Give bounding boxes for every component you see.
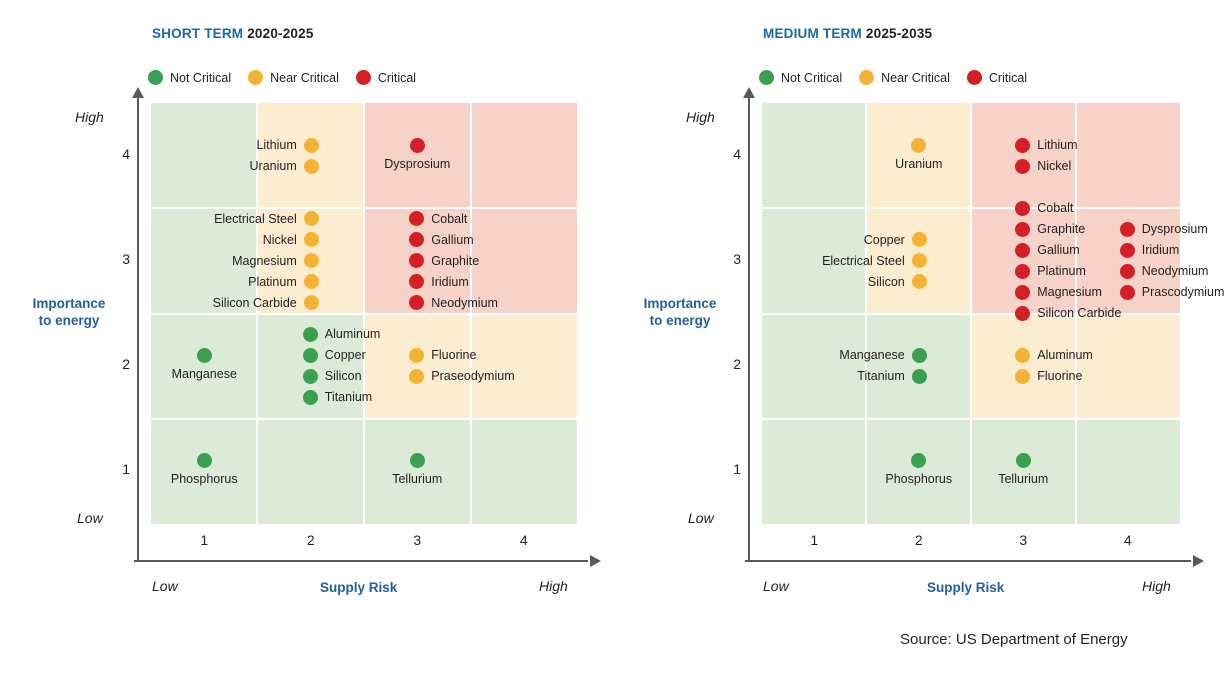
legend-dot-near-critical <box>859 70 874 85</box>
point-group-near-critical-row2: AluminumFluorine <box>1015 346 1215 386</box>
data-point-label: Copper <box>864 234 905 247</box>
data-point-dot <box>1120 222 1135 237</box>
data-point-dot <box>409 295 424 310</box>
data-point-label: Graphite <box>431 255 479 268</box>
data-point[interactable]: Copper <box>303 346 366 365</box>
legend-item-not-critical[interactable]: Not Critical <box>148 70 231 85</box>
x-tick-3: 3 <box>971 532 1076 548</box>
data-point-dot <box>409 369 424 384</box>
data-point-dot <box>304 211 319 226</box>
data-point-dot <box>912 274 927 289</box>
data-point-dot <box>1015 369 1030 384</box>
data-point-label: Prascodymium <box>1142 286 1225 299</box>
x-tick-4: 4 <box>471 532 578 548</box>
legend-dot-critical <box>356 70 371 85</box>
x-axis-arrow-icon <box>590 555 601 567</box>
data-point-dot <box>1120 285 1135 300</box>
legend-label: Near Critical <box>270 71 339 85</box>
data-point-label: Praseodymium <box>431 370 514 383</box>
data-point[interactable]: Fluorine <box>1015 367 1082 386</box>
point-group-critical-row3-far: DysprosiumIridiumNeodymiumPrascodymium <box>1120 220 1228 302</box>
data-point[interactable]: Nickel <box>263 230 319 249</box>
data-point-dot <box>304 253 319 268</box>
data-point[interactable]: Lithium <box>256 136 318 155</box>
data-point-label: Copper <box>325 349 366 362</box>
data-point-label: Dysprosium <box>1142 223 1208 236</box>
quadrant-cell <box>472 420 577 524</box>
y-axis-title-line1: Importance <box>619 296 741 313</box>
y-axis-low-label: Low <box>688 510 714 526</box>
data-point-label: Titanium <box>857 370 904 383</box>
point-group-tellurium: Tellurium <box>953 453 1093 486</box>
data-point-label: Magnesium <box>232 255 297 268</box>
legend-label: Near Critical <box>881 71 950 85</box>
data-point-label: Manganese <box>839 349 904 362</box>
data-point-dot <box>912 369 927 384</box>
data-point-label: Electrical Steel <box>214 213 297 226</box>
data-point[interactable]: Uranium <box>895 138 942 171</box>
data-point[interactable]: Iridium <box>1120 241 1180 260</box>
data-point-label: Fluorine <box>1037 370 1082 383</box>
data-point[interactable]: Silicon Carbide <box>1015 304 1121 323</box>
y-axis-low-label: Low <box>77 510 103 526</box>
data-point-label: Neodymium <box>431 297 498 310</box>
data-point[interactable]: Electrical Steel <box>214 209 319 228</box>
data-point[interactable]: Iridium <box>409 272 469 291</box>
legend-item-critical[interactable]: Critical <box>356 70 416 85</box>
data-point[interactable]: Nickel <box>1015 157 1071 176</box>
data-point-dot <box>303 390 318 405</box>
data-point-dot <box>911 453 926 468</box>
data-point[interactable]: Gallium <box>1015 241 1079 260</box>
data-point-dot <box>912 232 927 247</box>
legend-item-critical[interactable]: Critical <box>967 70 1027 85</box>
data-point-dot <box>1015 306 1030 321</box>
data-point[interactable]: Neodymium <box>1120 262 1209 281</box>
data-point-dot <box>410 138 425 153</box>
data-point[interactable]: Copper <box>864 230 927 249</box>
data-point-label: Nickel <box>1037 160 1071 173</box>
data-point[interactable]: Magnesium <box>232 251 319 270</box>
data-point-dot <box>1015 285 1030 300</box>
y-axis-title-line2: to energy <box>8 313 130 330</box>
data-point[interactable]: Titanium <box>303 388 372 407</box>
x-axis-title: Supply Risk <box>320 580 397 595</box>
x-axis-line <box>745 560 1191 562</box>
legend-dot-critical <box>967 70 982 85</box>
point-group-phosphorus: Phosphorus <box>134 453 274 486</box>
legend-item-near-critical[interactable]: Near Critical <box>859 70 950 85</box>
data-point[interactable]: Manganese <box>172 348 237 381</box>
data-point[interactable]: Fluorine <box>409 346 476 365</box>
data-point-label: Electrical Steel <box>822 255 905 268</box>
data-point-label: Lithium <box>256 139 296 152</box>
legend-dot-near-critical <box>248 70 263 85</box>
data-point-dot <box>1015 222 1030 237</box>
data-point-dot <box>197 453 212 468</box>
data-point-dot <box>197 348 212 363</box>
data-point-label: Aluminum <box>325 328 381 341</box>
legend-dot-not-critical <box>759 70 774 85</box>
data-point-label: Magnesium <box>1037 286 1102 299</box>
data-point[interactable]: Gallium <box>409 230 473 249</box>
data-point-dot <box>912 348 927 363</box>
y-axis-title: Importanceto energy <box>8 296 130 330</box>
data-point-label: Phosphorus <box>171 473 238 486</box>
data-point-label: Graphite <box>1037 223 1085 236</box>
x-axis-high-label: High <box>1142 578 1171 594</box>
point-group-near-critical-row2: FluorinePraseodymium <box>409 346 609 386</box>
data-point[interactable]: Silicon <box>303 367 362 386</box>
x-axis-low-label: Low <box>152 578 178 594</box>
data-point-label: Nickel <box>263 234 297 247</box>
x-axis-arrow-icon <box>1193 555 1204 567</box>
data-point-dot <box>304 159 319 174</box>
data-point-label: Tellurium <box>392 473 442 486</box>
point-group-critical-row4: LithiumNickel <box>1015 136 1215 176</box>
x-axis-low-label: Low <box>763 578 789 594</box>
data-point[interactable]: Titanium <box>857 367 926 386</box>
y-axis-arrow-icon <box>743 87 755 98</box>
chart-title-medium-term: MEDIUM TERM 2025-2035 <box>763 26 932 41</box>
y-tick-2: 2 <box>110 356 130 372</box>
y-axis-title-line2: to energy <box>619 313 741 330</box>
data-point-label: Platinum <box>1037 265 1086 278</box>
data-point[interactable]: Neodymium <box>409 293 498 312</box>
data-point-dot <box>1120 243 1135 258</box>
x-tick-3: 3 <box>364 532 471 548</box>
x-tick-4: 4 <box>1076 532 1181 548</box>
data-point-dot <box>1015 264 1030 279</box>
chart-title-short-term: SHORT TERM 2020-2025 <box>152 26 314 41</box>
data-point-dot <box>304 138 319 153</box>
y-axis-title: Importanceto energy <box>619 296 741 330</box>
data-point-dot <box>911 138 926 153</box>
point-group-critical-row3: CobaltGalliumGraphiteIridiumNeodymium <box>409 209 609 312</box>
point-group-uranium: Uranium <box>849 138 989 171</box>
data-point[interactable]: Silicon <box>868 272 927 291</box>
data-point[interactable]: Electrical Steel <box>822 251 927 270</box>
point-group-lithium-uranium: LithiumUranium <box>121 136 319 176</box>
point-group-tellurium: Tellurium <box>347 453 487 486</box>
data-point-label: Neodymium <box>1142 265 1209 278</box>
data-point-dot <box>304 295 319 310</box>
data-point-label: Iridium <box>431 276 469 289</box>
legend-item-near-critical[interactable]: Near Critical <box>248 70 339 85</box>
point-group-near-critical-row3: Electrical SteelNickelMagnesiumPlatinumS… <box>121 209 319 312</box>
legend-label: Not Critical <box>170 71 231 85</box>
data-point-dot <box>409 232 424 247</box>
point-group-dysprosium: Dysprosium <box>347 138 487 171</box>
x-tick-2: 2 <box>867 532 972 548</box>
data-point[interactable]: Graphite <box>1015 220 1085 239</box>
x-axis-high-label: High <box>539 578 568 594</box>
data-point-label: Cobalt <box>1037 202 1073 215</box>
data-point-dot <box>1015 159 1030 174</box>
data-point-dot <box>409 274 424 289</box>
data-point[interactable]: Platinum <box>1015 262 1086 281</box>
data-point-label: Aluminum <box>1037 349 1093 362</box>
data-point-dot <box>303 348 318 363</box>
data-point-label: Uranium <box>895 158 942 171</box>
data-point-dot <box>1015 243 1030 258</box>
point-group-manganese: Manganese <box>134 348 274 381</box>
data-point-dot <box>912 253 927 268</box>
data-point-dot <box>1016 453 1031 468</box>
legend-dot-not-critical <box>148 70 163 85</box>
data-point-label: Iridium <box>1142 244 1180 257</box>
data-point-label: Fluorine <box>431 349 476 362</box>
y-axis-high-label: High <box>75 109 104 125</box>
data-point[interactable]: Phosphorus <box>885 453 952 486</box>
data-point-label: Tellurium <box>998 473 1048 486</box>
chart-title-years: 2025-2035 <box>862 26 932 41</box>
data-point[interactable]: Tellurium <box>392 453 442 486</box>
data-point-dot <box>1015 201 1030 216</box>
y-tick-1: 1 <box>721 461 741 477</box>
data-point-label: Cobalt <box>431 213 467 226</box>
legend-short-term: Not CriticalNear CriticalCritical <box>148 70 416 85</box>
chart-title-term: SHORT TERM <box>152 26 243 41</box>
data-point-label: Silicon Carbide <box>213 297 297 310</box>
x-tick-2: 2 <box>258 532 365 548</box>
x-axis-line <box>134 560 588 562</box>
y-tick-1: 1 <box>110 461 130 477</box>
data-point-dot <box>410 453 425 468</box>
data-point[interactable]: Cobalt <box>409 209 467 228</box>
data-point[interactable]: Praseodymium <box>409 367 514 386</box>
y-axis-title-line1: Importance <box>8 296 130 313</box>
legend-label: Critical <box>378 71 416 85</box>
data-point-label: Titanium <box>325 391 372 404</box>
data-point[interactable]: Tellurium <box>998 453 1048 486</box>
x-axis-title: Supply Risk <box>927 580 1004 595</box>
data-point-dot <box>1120 264 1135 279</box>
data-point-label: Lithium <box>1037 139 1077 152</box>
data-point-dot <box>409 253 424 268</box>
chart-title-years: 2020-2025 <box>243 26 313 41</box>
data-point[interactable]: Silicon Carbide <box>213 293 319 312</box>
data-point-dot <box>304 232 319 247</box>
y-axis-high-label: High <box>686 109 715 125</box>
data-point-label: Manganese <box>172 368 237 381</box>
legend-label: Not Critical <box>781 71 842 85</box>
data-point-dot <box>303 327 318 342</box>
data-point-dot <box>303 369 318 384</box>
data-point-label: Dysprosium <box>384 158 450 171</box>
legend-item-not-critical[interactable]: Not Critical <box>759 70 842 85</box>
source-note: Source: US Department of Energy <box>900 631 1128 648</box>
legend-label: Critical <box>989 71 1027 85</box>
data-point[interactable]: Dysprosium <box>1120 220 1208 239</box>
data-point-label: Platinum <box>248 276 297 289</box>
data-point[interactable]: Dysprosium <box>384 138 450 171</box>
y-axis-line <box>748 98 750 560</box>
data-point-dot <box>304 274 319 289</box>
data-point-dot <box>1015 138 1030 153</box>
data-point[interactable]: Aluminum <box>1015 346 1093 365</box>
data-point[interactable]: Uranium <box>250 157 319 176</box>
chart-title-term: MEDIUM TERM <box>763 26 862 41</box>
y-tick-4: 4 <box>721 146 741 162</box>
data-point[interactable]: Phosphorus <box>171 453 238 486</box>
data-point-dot <box>1015 348 1030 363</box>
point-group-near-critical-row3: CopperElectrical SteelSilicon <box>729 230 927 291</box>
data-point-label: Silicon Carbide <box>1037 307 1121 320</box>
y-axis-arrow-icon <box>132 87 144 98</box>
data-point[interactable]: Graphite <box>409 251 479 270</box>
legend-medium-term: Not CriticalNear CriticalCritical <box>759 70 1027 85</box>
data-point-label: Uranium <box>250 160 297 173</box>
data-point[interactable]: Manganese <box>839 346 926 365</box>
data-point-label: Gallium <box>431 234 473 247</box>
data-point[interactable]: Magnesium <box>1015 283 1102 302</box>
data-point-label: Phosphorus <box>885 473 952 486</box>
point-group-not-critical-row2: ManganeseTitanium <box>729 346 927 386</box>
quadrant-cell <box>472 103 577 207</box>
data-point[interactable]: Lithium <box>1015 136 1077 155</box>
data-point[interactable]: Cobalt <box>1015 199 1073 218</box>
data-point[interactable]: Platinum <box>248 272 319 291</box>
x-tick-1: 1 <box>762 532 867 548</box>
data-point-label: Silicon <box>868 276 905 289</box>
data-point-dot <box>409 348 424 363</box>
data-point[interactable]: Aluminum <box>303 325 381 344</box>
data-point-dot <box>409 211 424 226</box>
x-tick-1: 1 <box>151 532 258 548</box>
data-point-label: Gallium <box>1037 244 1079 257</box>
data-point[interactable]: Prascodymium <box>1120 283 1225 302</box>
data-point-label: Silicon <box>325 370 362 383</box>
